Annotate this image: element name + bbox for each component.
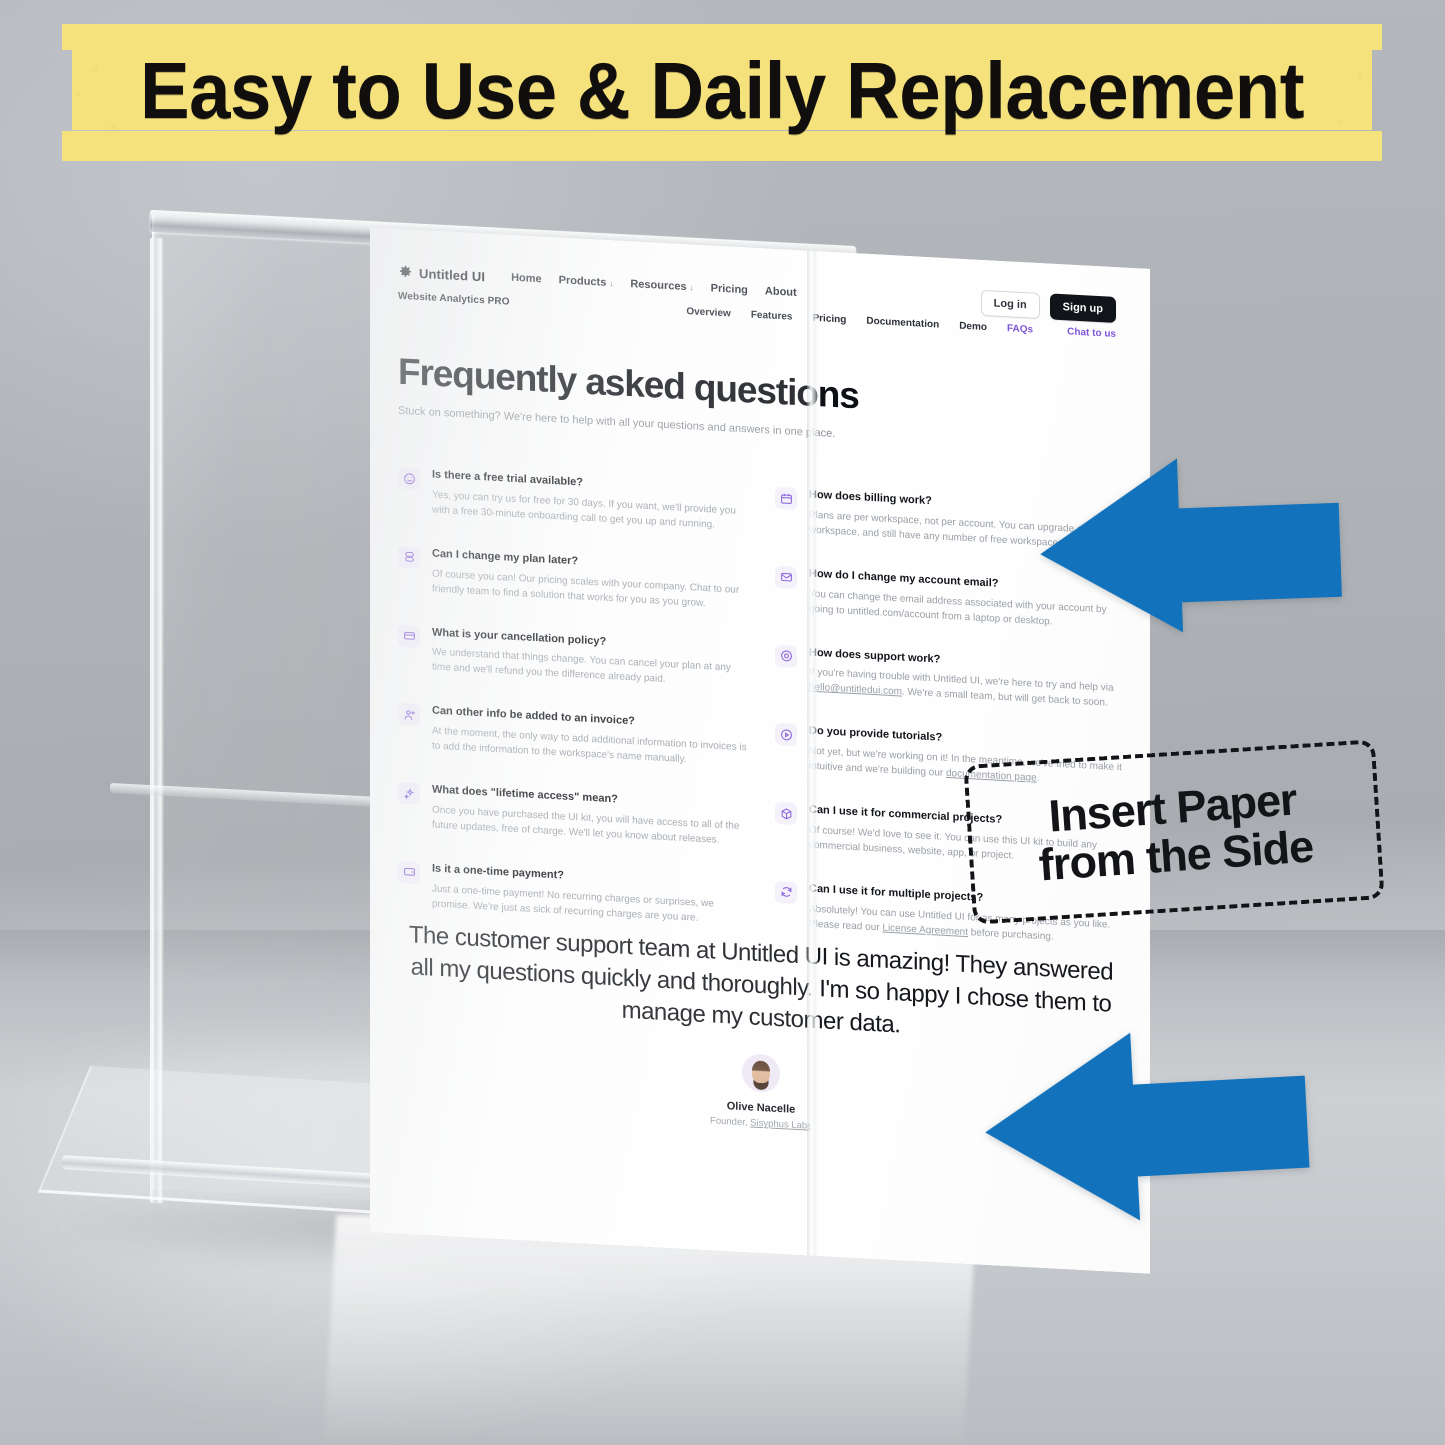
- subnav-link-documentation[interactable]: Documentation: [866, 316, 939, 331]
- nav-link-resources[interactable]: Resources ↓: [630, 278, 693, 293]
- mail-icon: [775, 566, 797, 589]
- faq-item[interactable]: Can I change my plan later? Of course yo…: [398, 545, 747, 612]
- lifebuoy-icon: [775, 644, 797, 667]
- chevron-down-icon: ↓: [609, 278, 613, 287]
- insert-paper-callout: Insert Paper from the Side: [963, 739, 1384, 925]
- subnav-link-pricing[interactable]: Pricing: [813, 313, 847, 326]
- chevron-down-icon: ↓: [690, 283, 694, 292]
- brand-name: Untitled UI: [419, 265, 485, 284]
- avatar: [742, 1054, 780, 1094]
- support-email-link[interactable]: hello@untitledui.com: [809, 682, 902, 698]
- role-prefix: Founder,: [710, 1116, 750, 1129]
- faq-item[interactable]: Can other info be added to an invoice? A…: [398, 703, 747, 770]
- nav-actions: Log in Sign up: [981, 290, 1116, 323]
- acrylic-left-edge: [150, 238, 164, 1204]
- box-icon: [775, 802, 797, 825]
- layers-icon: [398, 545, 420, 568]
- subnav-link-features[interactable]: Features: [751, 310, 793, 323]
- faq-item[interactable]: What is your cancellation policy? We und…: [398, 624, 747, 691]
- smiley-icon: [398, 467, 420, 490]
- user-plus-icon: [398, 703, 420, 726]
- faq-answer-post: before purchasing.: [968, 927, 1054, 943]
- arrow-left-bottom: [980, 1016, 1312, 1233]
- faq-item[interactable]: What does "lifetime access" mean? Once y…: [398, 782, 747, 849]
- calendar-icon: [775, 487, 797, 510]
- callout-text: Insert Paper from the Side: [1034, 775, 1315, 889]
- faq-item[interactable]: Is there a free trial available? Yes, yo…: [398, 467, 747, 534]
- nav-link-products[interactable]: Products ↓: [559, 274, 614, 289]
- faq-item[interactable]: Is it a one-time payment? Just a one-tim…: [398, 860, 747, 927]
- nav-link-home[interactable]: Home: [511, 272, 542, 286]
- product-name: Website Analytics PRO: [398, 291, 510, 308]
- faq-hero: Frequently asked questions Stuck on some…: [398, 351, 1116, 455]
- faq-item[interactable]: How does support work? If you're having …: [775, 644, 1124, 711]
- wallet-icon: [398, 860, 420, 883]
- product-marketing-image: Easy to Use & Daily Replacement U: [0, 0, 1445, 1445]
- login-button[interactable]: Log in: [981, 290, 1040, 319]
- refresh-icon: [775, 881, 797, 904]
- nav-link-pricing[interactable]: Pricing: [711, 282, 748, 296]
- signup-button[interactable]: Sign up: [1050, 293, 1116, 323]
- credit-card-icon: [398, 624, 420, 647]
- arrow-left-top: [1037, 447, 1343, 642]
- primary-nav-links: Home Products ↓ Resources ↓ Pricing Abou: [511, 272, 797, 299]
- license-agreement-link[interactable]: License Agreement: [882, 922, 968, 938]
- subnav-link-demo[interactable]: Demo: [959, 321, 987, 333]
- brand-logo[interactable]: Untitled UI: [398, 264, 485, 284]
- play-circle-icon: [775, 723, 797, 746]
- subnav-link-overview[interactable]: Overview: [686, 306, 730, 319]
- subnav-link-faqs[interactable]: FAQs: [1007, 323, 1033, 335]
- gear-icon: [398, 264, 413, 280]
- sparkle-icon: [398, 782, 420, 805]
- nav-link-about[interactable]: About: [765, 285, 797, 299]
- chat-to-us-link[interactable]: Chat to us: [1067, 326, 1116, 340]
- company-link[interactable]: Sisyphus Labs: [750, 1118, 812, 1132]
- faq-column-left: Is there a free trial available? Yes, yo…: [398, 467, 747, 928]
